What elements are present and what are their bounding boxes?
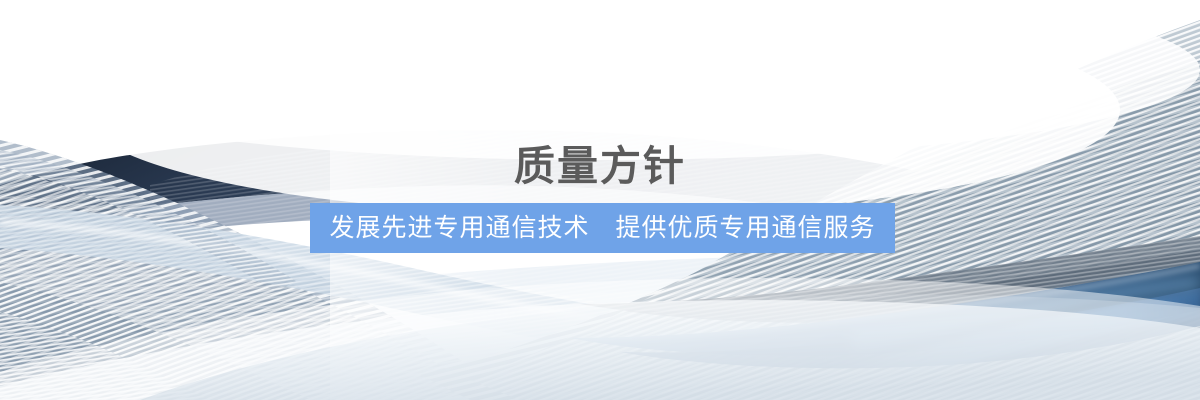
page-title: 质量方针	[0, 140, 1200, 192]
banner-content: 质量方针 发展先进专用通信技术 提供优质专用通信服务	[0, 0, 1200, 400]
slogan-text: 发展先进专用通信技术 提供优质专用通信服务	[329, 214, 875, 242]
slogan-bar: 发展先进专用通信技术 提供优质专用通信服务	[310, 203, 895, 253]
quality-policy-banner: 质量方针 发展先进专用通信技术 提供优质专用通信服务	[0, 0, 1200, 400]
